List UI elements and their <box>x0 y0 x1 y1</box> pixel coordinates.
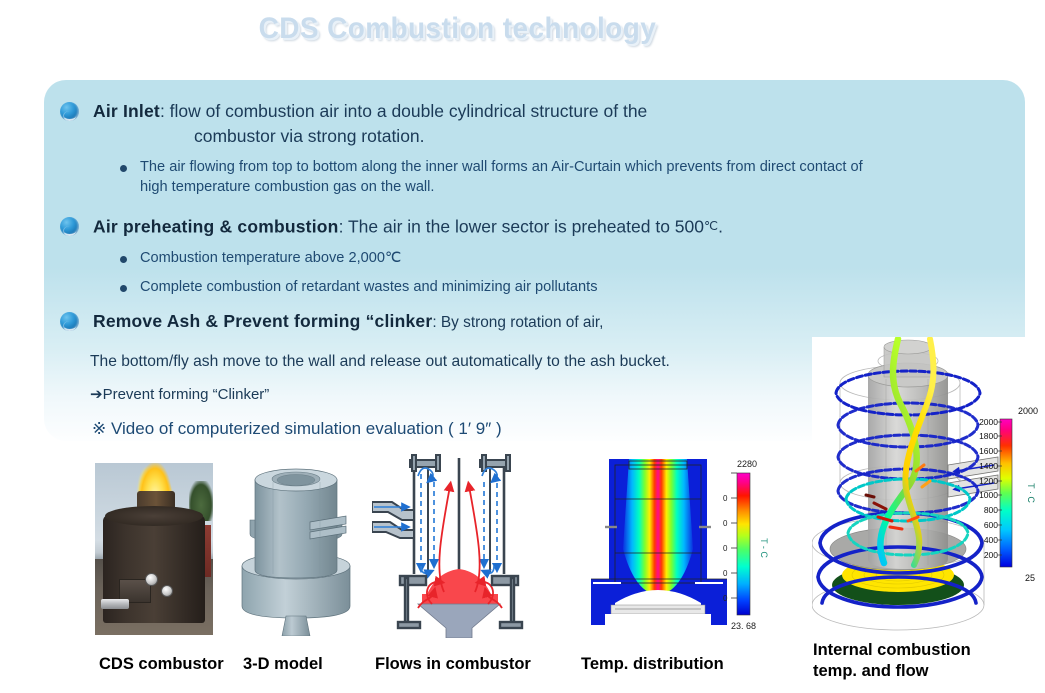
sim-cb-tick-1800: 1800 <box>979 431 998 441</box>
sim-cb-tick-1400: 1400 <box>979 461 998 471</box>
bullet-section-air-inlet: Air Inlet: flow of combustion air into a… <box>60 98 647 125</box>
sim-cb-tick-800: 800 <box>984 505 998 515</box>
page-title-text: CDS Combustion technology <box>259 12 657 46</box>
sub-bullet-dot-icon <box>120 285 127 292</box>
section-2-sub-2-text: Complete combustion of retardant wastes … <box>140 277 598 297</box>
cb-tick-0: 0 <box>723 494 728 503</box>
combustor-top-rim <box>105 506 203 526</box>
section-1-sub-2-text: high temperature combustion gas on the w… <box>140 176 434 198</box>
inlet-pipe <box>101 599 129 609</box>
section-1-heading: Air Inlet <box>93 101 160 121</box>
figure-caption-photo: CDS combustor <box>99 655 224 674</box>
section-2-sub-1: Combustion temperature above 2,000℃ <box>120 248 401 268</box>
sub-bullet-dot-icon <box>120 256 127 263</box>
cad-model-svg <box>228 458 364 636</box>
section-2-heading-tail: . <box>718 216 723 236</box>
internal-sim-svg: 2000 1800 1600 1400 1200 1000 800 600 40… <box>812 337 1045 633</box>
sim-cb-tick-200: 200 <box>984 550 998 560</box>
sim-cb-axis-label: T · C <box>1026 483 1036 503</box>
bullet-section-remove-ash: Remove Ash & Prevent forming “clinker: B… <box>60 308 603 336</box>
cb-max-label: 2280 <box>737 459 757 469</box>
arrow-right-icon: ➔ <box>90 386 103 403</box>
sim-cb-tick-400: 400 <box>984 535 998 545</box>
page-title: CDS Combustion technology <box>37 12 1009 46</box>
figure-temp-distribution: 0 0 0 0 0 2280 23. 68 T - C <box>585 453 785 635</box>
sim-cb-min-label: 25 <box>1025 573 1035 583</box>
section-1-sub-1-text: The air flowing from top to bottom along… <box>140 157 863 177</box>
cb-tick-3: 0 <box>723 569 728 578</box>
figure-caption-cad: 3-D model <box>243 655 323 674</box>
cb-axis-label: T - C <box>759 538 769 558</box>
combustor-vessel <box>103 515 205 623</box>
section-3-arrow-text: Prevent forming “Clinker” <box>103 386 270 403</box>
blue-disc-icon <box>60 312 79 331</box>
section-3-heading: Remove Ash & Prevent forming “clinker <box>93 311 432 331</box>
cb-tick-4: 0 <box>723 594 728 603</box>
blue-disc-icon <box>60 102 79 121</box>
section-2-heading: Air preheating & combustion <box>93 216 339 236</box>
sim-cb-tick-1600: 1600 <box>979 446 998 456</box>
sub-bullet-dot-icon <box>120 165 127 172</box>
sim-cb-tick-2000: 2000 <box>979 417 998 427</box>
sim-cb-tick-1000: 1000 <box>979 490 998 500</box>
figure-caption-sim-line2: temp. and flow <box>813 661 971 682</box>
section-2-sub-2: Complete combustion of retardant wastes … <box>120 277 598 297</box>
sim-cb-tick-600: 600 <box>984 520 998 530</box>
sim-cb-max-label: 2000 <box>1018 406 1038 416</box>
section-2-heading-unit: ℃ <box>704 219 718 233</box>
flows-schematic-svg <box>372 452 568 638</box>
section-2-heading-rest: : The air in the lower sector is preheat… <box>339 216 704 236</box>
section-2-sub-1-text: Combustion temperature above 2,000℃ <box>140 248 401 268</box>
figure-cds-combustor-photo <box>95 463 213 635</box>
video-note-line: ※ Video of computerized simulation evalu… <box>92 419 502 439</box>
bullet-section-air-preheating: Air preheating & combustion: The air in … <box>60 213 723 240</box>
figure-3d-model <box>228 458 364 636</box>
pressure-gauge-icon <box>161 585 173 597</box>
figure-caption-temp: Temp. distribution <box>581 655 724 674</box>
sim-cb-tick-1200: 1200 <box>979 476 998 486</box>
figure-caption-sim-line1: Internal combustion <box>813 640 971 661</box>
section-3-heading-rest: : By strong rotation of air, <box>432 314 603 331</box>
blue-disc-icon <box>60 217 79 236</box>
cb-min-label: 23. 68 <box>731 621 756 631</box>
section-1-heading-rest: : flow of combustion air into a double c… <box>160 101 647 121</box>
cb-tick-2: 0 <box>723 544 728 553</box>
reference-mark-icon: ※ <box>92 419 106 438</box>
figure-flows-in-combustor <box>372 452 568 638</box>
figure-caption-sim: Internal combustion temp. and flow <box>813 640 971 682</box>
figure-caption-flows: Flows in combustor <box>375 655 531 674</box>
video-note-text: Video of computerized simulation evaluat… <box>111 419 502 438</box>
section-1-sub-1: The air flowing from top to bottom along… <box>120 157 863 177</box>
section-3-plain-text: The bottom/fly ash move to the wall and … <box>90 351 670 373</box>
temp-distribution-svg: 0 0 0 0 0 2280 23. 68 T - C <box>585 453 785 635</box>
figure-internal-combustion-sim: 2000 1800 1600 1400 1200 1000 800 600 40… <box>812 337 1045 633</box>
section-1-continuation: combustor via strong rotation. <box>194 125 425 147</box>
pressure-gauge-icon <box>145 573 158 586</box>
cb-tick-1: 0 <box>723 519 728 528</box>
section-3-arrow-line: ➔Prevent forming “Clinker” <box>90 385 269 403</box>
